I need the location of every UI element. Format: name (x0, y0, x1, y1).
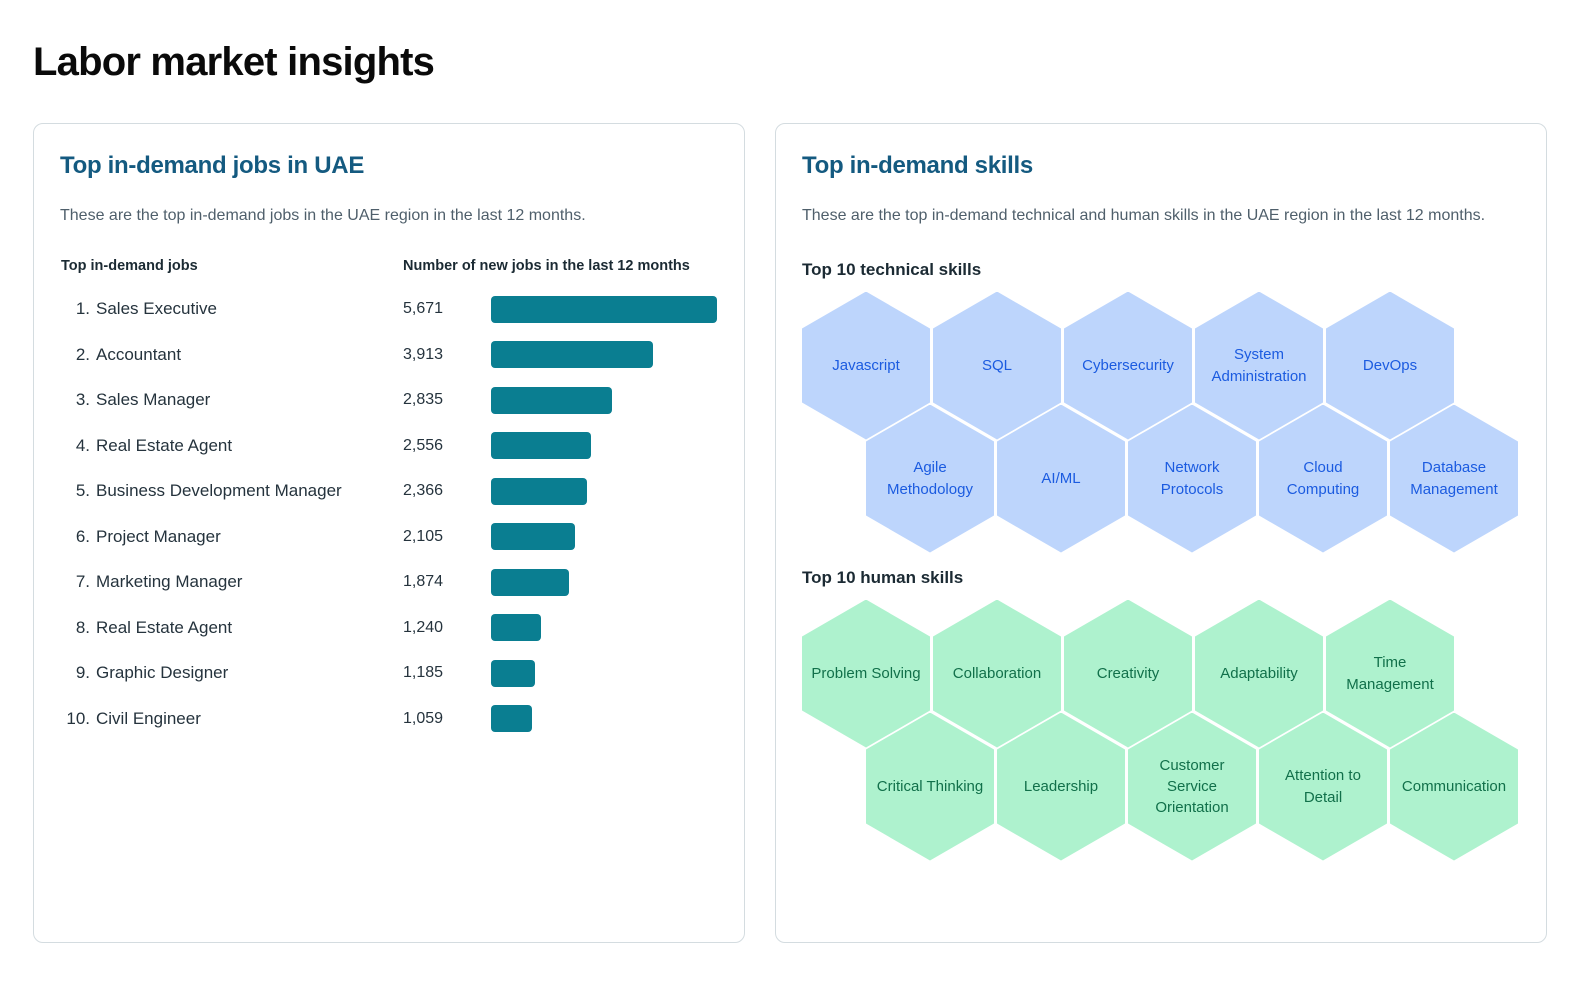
skill-hexagon-label: Javascript (823, 355, 909, 376)
job-rank: 5. (60, 481, 96, 501)
table-row: 3.Sales Manager2,835 (60, 378, 718, 424)
job-bar-track (491, 614, 718, 641)
job-count-value: 1,240 (403, 619, 491, 637)
job-bar-track (491, 523, 718, 550)
job-bar (491, 569, 569, 596)
jobs-table-header: Top in-demand jobs Number of new jobs in… (60, 258, 718, 274)
job-bar (491, 660, 535, 687)
job-bar-track (491, 569, 718, 596)
job-bar (491, 478, 587, 505)
skill-hexagon-label: Customer Service Orientation (1128, 755, 1256, 819)
job-bar (491, 387, 612, 414)
job-count-value: 3,913 (403, 346, 491, 364)
table-row: 9.Graphic Designer1,185 (60, 651, 718, 697)
job-count-value: 1,185 (403, 664, 491, 682)
table-row: 4.Real Estate Agent2,556 (60, 423, 718, 469)
skill-hexagon-label: Collaboration (944, 663, 1050, 684)
job-title: Business Development Manager (96, 481, 403, 501)
job-bar (491, 341, 653, 368)
job-count-value: 2,105 (403, 528, 491, 546)
job-rank: 9. (60, 663, 96, 683)
job-bar-track (491, 660, 718, 687)
skill-hexagon[interactable]: Communication (1390, 713, 1518, 861)
skill-hexagon[interactable]: Leadership (997, 713, 1125, 861)
table-row: 5.Business Development Manager2,366 (60, 469, 718, 515)
job-bar-track (491, 705, 718, 732)
job-title: Civil Engineer (96, 709, 403, 729)
job-title: Real Estate Agent (96, 618, 403, 638)
job-rank: 2. (60, 345, 96, 365)
job-bar (491, 614, 541, 641)
skill-hexagon-label: Critical Thinking (868, 776, 992, 797)
skill-hexagon[interactable]: Agile Methodology (866, 405, 994, 553)
technical-skills-hexgrid: JavascriptSQLCybersecuritySystem Adminis… (802, 292, 1520, 538)
job-count-value: 2,366 (403, 482, 491, 500)
skill-hexagon-label: Cloud Computing (1259, 457, 1387, 500)
top-jobs-card-description: These are the top in-demand jobs in the … (60, 202, 718, 230)
table-row: 10.Civil Engineer1,059 (60, 696, 718, 742)
skill-hexagon[interactable]: Critical Thinking (866, 713, 994, 861)
job-bar-track (491, 432, 718, 459)
human-skills-row-bottom: Critical ThinkingLeadershipCustomer Serv… (866, 713, 1521, 861)
skill-hexagon-label: DevOps (1354, 355, 1426, 376)
job-rank: 8. (60, 618, 96, 638)
job-bar-track (491, 478, 718, 505)
job-rank: 7. (60, 572, 96, 592)
job-title: Real Estate Agent (96, 436, 403, 456)
technical-skills-heading: Top 10 technical skills (802, 260, 1520, 280)
skill-hexagon[interactable]: Network Protocols (1128, 405, 1256, 553)
skill-hexagon-label: SQL (973, 355, 1021, 376)
skill-hexagon-label: System Administration (1195, 344, 1323, 387)
job-bar-track (491, 296, 718, 323)
skill-hexagon[interactable]: Database Management (1390, 405, 1518, 553)
skill-hexagon-label: Attention to Detail (1259, 765, 1387, 808)
job-bar (491, 432, 591, 459)
skill-hexagon-label: Time Management (1326, 652, 1454, 695)
skill-hexagon[interactable]: Cloud Computing (1259, 405, 1387, 553)
skill-hexagon-label: Problem Solving (802, 663, 929, 684)
job-title: Sales Manager (96, 390, 403, 410)
skill-hexagon[interactable]: AI/ML (997, 405, 1125, 553)
skill-hexagon-label: Database Management (1390, 457, 1518, 500)
human-skills-heading: Top 10 human skills (802, 568, 1520, 588)
cards-container: Top in-demand jobs in UAE These are the … (33, 123, 1547, 943)
skill-hexagon-label: Adaptability (1211, 663, 1307, 684)
skill-hexagon-label: Communication (1393, 776, 1515, 797)
top-jobs-card-title: Top in-demand jobs in UAE (60, 152, 718, 180)
job-count-value: 2,835 (403, 391, 491, 409)
top-jobs-card: Top in-demand jobs in UAE These are the … (33, 123, 745, 943)
job-title: Project Manager (96, 527, 403, 547)
top-skills-card-title: Top in-demand skills (802, 152, 1520, 180)
job-bar-track (491, 341, 718, 368)
table-row: 8.Real Estate Agent1,240 (60, 605, 718, 651)
skill-hexagon[interactable]: Attention to Detail (1259, 713, 1387, 861)
table-row: 6.Project Manager2,105 (60, 514, 718, 560)
job-count-value: 1,874 (403, 573, 491, 591)
skill-hexagon-label: AI/ML (1032, 468, 1089, 489)
column-header-job: Top in-demand jobs (60, 258, 403, 274)
skill-hexagon-label: Network Protocols (1128, 457, 1256, 500)
top-skills-card: Top in-demand skills These are the top i… (775, 123, 1547, 943)
job-bar (491, 705, 532, 732)
top-skills-card-description: These are the top in-demand technical an… (802, 202, 1502, 230)
table-row: 2.Accountant3,913 (60, 332, 718, 378)
skill-hexagon-label: Leadership (1015, 776, 1107, 797)
skill-hexagon-label: Creativity (1088, 663, 1169, 684)
job-bar (491, 296, 717, 323)
jobs-table-rows: 1.Sales Executive5,6712.Accountant3,9133… (60, 287, 718, 742)
human-skills-hexgrid: Problem SolvingCollaborationCreativityAd… (802, 600, 1520, 850)
skill-hexagon[interactable]: Customer Service Orientation (1128, 713, 1256, 861)
job-count-value: 2,556 (403, 437, 491, 455)
skill-hexagon-label: Cybersecurity (1073, 355, 1183, 376)
page-title: Labor market insights (33, 38, 434, 86)
job-title: Sales Executive (96, 299, 403, 319)
job-title: Graphic Designer (96, 663, 403, 683)
job-count-value: 5,671 (403, 300, 491, 318)
technical-skills-row-bottom: Agile MethodologyAI/MLNetwork ProtocolsC… (866, 405, 1521, 553)
job-rank: 3. (60, 390, 96, 410)
job-count-value: 1,059 (403, 710, 491, 728)
skill-hexagon-label: Agile Methodology (866, 457, 994, 500)
job-rank: 6. (60, 527, 96, 547)
column-header-count: Number of new jobs in the last 12 months (403, 258, 718, 274)
job-rank: 4. (60, 436, 96, 456)
job-title: Accountant (96, 345, 403, 365)
table-row: 7.Marketing Manager1,874 (60, 560, 718, 606)
job-rank: 10. (60, 709, 96, 729)
job-title: Marketing Manager (96, 572, 403, 592)
job-bar (491, 523, 575, 550)
labor-market-insights-page: Labor market insights Top in-demand jobs… (0, 0, 1580, 990)
table-row: 1.Sales Executive5,671 (60, 287, 718, 333)
job-rank: 1. (60, 299, 96, 319)
job-bar-track (491, 387, 718, 414)
